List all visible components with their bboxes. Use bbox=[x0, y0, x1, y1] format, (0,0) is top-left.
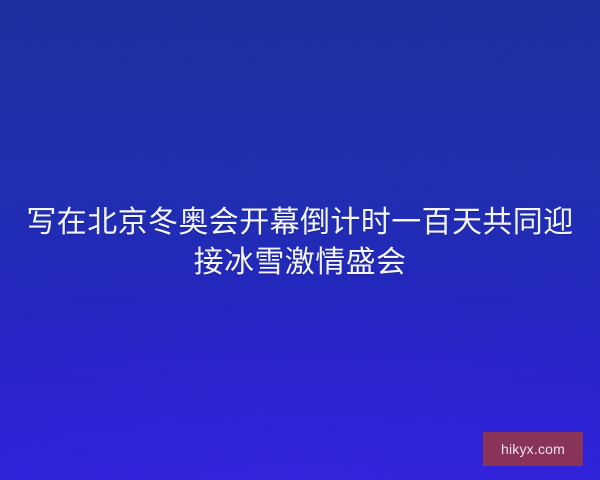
watermark-label: hikyx.com bbox=[501, 442, 565, 456]
headline-line-1: 写在北京冬奥会开幕倒计时一百天共同迎 bbox=[16, 203, 584, 243]
image-canvas: 写在北京冬奥会开幕倒计时一百天共同迎 接冰雪激情盛会 hikyx.com bbox=[0, 0, 600, 480]
watermark-badge: hikyx.com bbox=[483, 432, 583, 466]
headline-line-2: 接冰雪激情盛会 bbox=[16, 243, 584, 283]
headline-text: 写在北京冬奥会开幕倒计时一百天共同迎 接冰雪激情盛会 bbox=[0, 203, 600, 283]
